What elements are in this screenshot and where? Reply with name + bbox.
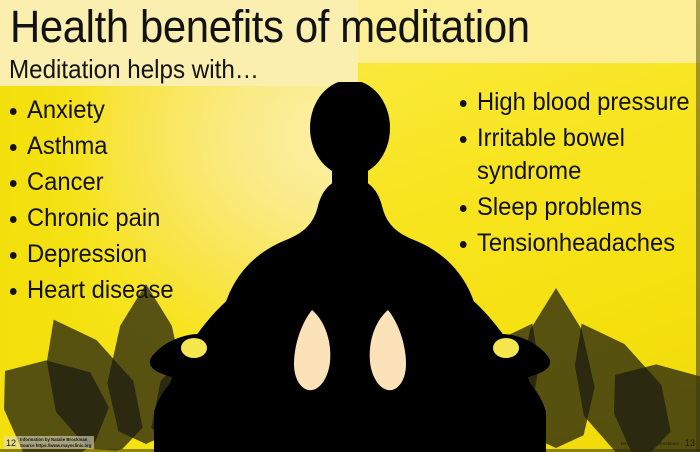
list-item: High blood pressure <box>458 86 692 119</box>
mudra-circle-left <box>181 338 207 358</box>
footer-credit-left: 12 Information by Natalie Brockman Sourc… <box>4 436 94 449</box>
list-item: Irritable bowel syndrome <box>458 122 692 188</box>
credit-lines: Information by Natalie Brockman Source h… <box>20 437 91 448</box>
list-item: Tensionheadaches <box>458 227 692 260</box>
credit-line-2: Source https://www.mayoclinic.org <box>20 443 91 449</box>
right-benefits-list: High blood pressure Irritable bowel synd… <box>458 86 700 263</box>
list-item: Anxiety <box>8 94 236 127</box>
design-credit: Design by Natalie Brockman <box>621 441 679 446</box>
list-item: Heart disease <box>8 274 236 307</box>
page-number-right: 13 <box>685 438 695 448</box>
page-number-left: 12 <box>6 438 16 448</box>
left-benefits-list: Anxiety Asthma Cancer Chronic pain Depre… <box>8 94 248 310</box>
mudra-circle-right <box>493 338 519 358</box>
list-item: Sleep problems <box>458 191 692 224</box>
footer-credit-right: Design by Natalie Brockman 13 <box>621 438 695 448</box>
list-item: Depression <box>8 238 236 271</box>
list-item: Asthma <box>8 130 236 163</box>
list-item: Chronic pain <box>8 202 236 235</box>
page-subtitle: Meditation helps with… <box>9 54 344 84</box>
slide-canvas: Health benefits of meditation Meditation… <box>0 0 700 452</box>
list-item: Cancer <box>8 166 236 199</box>
page-title: Health benefits of meditation <box>10 2 605 52</box>
